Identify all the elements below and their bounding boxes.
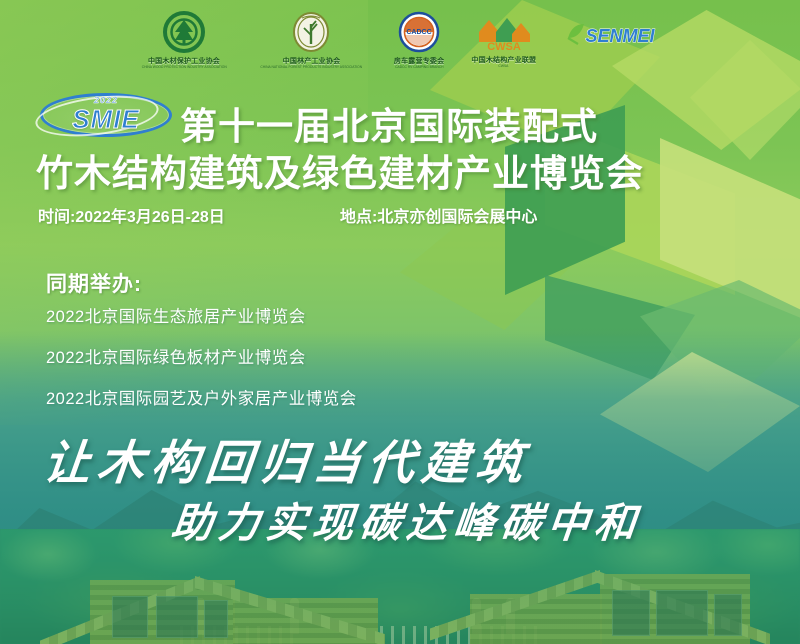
page-title-line2: 竹木结构建筑及绿色建材产业博览会 <box>36 143 644 197</box>
svg-text:CADCC: CADCC <box>406 29 431 36</box>
bamboo-in-oval-icon <box>290 11 332 58</box>
sponsor-logo-4: CWSA 中国木结构产业联盟 CWSA <box>471 12 536 69</box>
sponsor-logo-subcaption: CADCC RV CAMPING BRANCH <box>395 66 443 70</box>
list-item: 2022北京国际生态旅居产业博览会 <box>46 303 357 327</box>
tree-in-circle-icon <box>163 11 205 58</box>
sponsor-logo-2: 中国林产工业协会 CHINA NATIONAL FOREST PRODUCTS … <box>256 11 367 70</box>
sponsor-logo-3: CADCC 房车露营专委会 CADCC RV CAMPING BRANCH <box>393 11 446 70</box>
sponsor-logo-subcaption: CHINA WOOD PROTECTION INDUSTRY ASSOCIATI… <box>141 66 226 70</box>
leaf-icon: SENMEI <box>562 18 662 55</box>
list-item: 2022北京国际绿色板材产业博览会 <box>46 344 357 368</box>
sponsor-logo-subcaption: CHINA NATIONAL FOREST PRODUCTS INDUSTRY … <box>261 66 363 70</box>
event-place: 地点:北京亦创国际会展中心 <box>340 203 537 227</box>
svg-text:CWSA: CWSA <box>487 41 521 52</box>
svg-text:SENMEI: SENMEI <box>586 26 656 46</box>
smie-logo: 2022 SMIE <box>40 93 172 137</box>
sponsor-logo-1: 中国木材保护工业协会 CHINA WOOD PROTECTION INDUSTR… <box>138 11 230 70</box>
exhibition-poster: 中国木材保护工业协会 CHINA WOOD PROTECTION INDUSTR… <box>0 0 800 644</box>
concurrent-events-heading: 同期举办: <box>46 268 142 298</box>
slogan-line1: 让木构回归当代建筑 <box>40 424 533 493</box>
cadcc-seal-icon: CADCC <box>398 11 440 58</box>
smie-logo-text: SMIE <box>40 104 172 135</box>
sponsor-logo-5: SENMEI SENMEI <box>562 18 662 63</box>
sponsor-logo-subcaption: CWSA <box>499 65 509 69</box>
slogan-line2: 助力实现碳达峰碳中和 <box>169 489 645 549</box>
concurrent-events-list: 2022北京国际生态旅居产业博览会 2022北京国际绿色板材产业博览会 2022… <box>46 303 357 426</box>
page-title-line1: 第十一届北京国际装配式 <box>180 96 598 150</box>
list-item: 2022北京国际园艺及户外家居产业博览会 <box>46 385 357 409</box>
house-roof-icon: CWSA <box>476 12 532 57</box>
sponsor-logo-strip: 中国木材保护工业协会 CHINA WOOD PROTECTION INDUSTR… <box>0 0 800 80</box>
event-time: 时间:2022年3月26日-28日 <box>38 203 225 227</box>
